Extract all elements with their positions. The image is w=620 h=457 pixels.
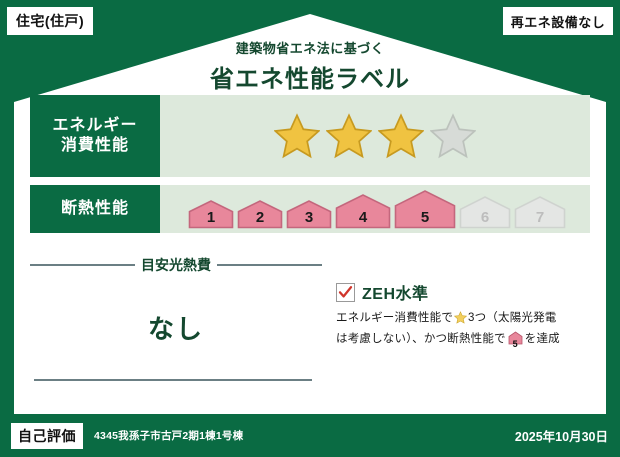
zeh-box: ZEH水準 エネルギー消費性能で 3つ（太陽光発電 は考慮しない）、かつ断熱性能… [322,255,590,405]
lower-section: 目安光熱費 なし ZEH水準 エネルギー消費性能で 3つ（太陽光発電 は考慮しな… [30,255,590,405]
issue-date: 2025年10月30日 [515,426,608,445]
row-insulation-label-line1: 断熱性能 [61,199,129,219]
insulation-level-1: 1 [188,199,234,229]
star-icon-inline [454,311,467,331]
insulation-level-5: 5 [394,189,456,229]
insulation-level-value: 1 [188,209,234,226]
label-footer: 自己評価 4345我孫子市古戸2期1棟1号棟 2025年10月30日 [0,414,620,457]
row-energy-label-line2: 消費性能 [61,136,129,156]
insulation-level-6: 6 [459,195,511,229]
row-insulation-performance: 断熱性能 1234567 [30,185,590,233]
row-insulation-value: 1234567 [160,185,590,233]
star-icon-filled [326,113,372,159]
utility-cost-box: 目安光熱費 なし [30,255,322,405]
utility-cost-heading-text: 目安光熱費 [141,255,211,275]
insulation-level-7: 7 [514,195,566,229]
zeh-description: エネルギー消費性能で 3つ（太陽光発電 は考慮しない）、かつ断熱性能で 5 を達… [336,310,590,352]
utility-cost-bottom-rule [34,379,312,381]
insulation-level-value: 6 [459,209,511,226]
utility-cost-heading: 目安光熱費 [30,255,322,275]
insulation-level-value: 5 [394,209,456,226]
zeh-desc-part2: 3つ（太陽光発電 [468,312,557,324]
insulation-level-value: 4 [335,209,391,226]
star-icon-empty [430,113,476,159]
zeh-title-text: ZEH水準 [362,280,429,304]
star-icon-filled [378,113,424,159]
insulation-level-4: 4 [335,193,391,229]
star-rating [274,113,476,159]
insulation-level-scale: 1234567 [184,189,566,229]
performance-rows: エネルギー 消費性能 断熱性能 1234567 [30,95,590,241]
row-energy-value [160,95,590,177]
building-identifier: 4345我孫子市古戸2期1棟1号棟 [94,428,243,443]
zeh-checkbox[interactable] [336,283,355,302]
insulation-level-value: 7 [514,209,566,226]
heading-rule-left [30,264,135,266]
insulation-badge-inline: 5 [508,331,523,352]
insulation-level-2: 2 [237,199,283,229]
utility-cost-value: なし [30,309,322,346]
zeh-title-row: ZEH水準 [336,280,590,304]
row-insulation-label: 断熱性能 [30,185,160,233]
tag-building-type: 住宅(住戸) [6,6,94,36]
evaluation-type-badge: 自己評価 [10,422,84,450]
row-energy-label: エネルギー 消費性能 [30,95,160,177]
tag-renewable-energy: 再エネ設備なし [502,6,614,36]
row-energy-performance: エネルギー 消費性能 [30,95,590,177]
zeh-desc-part4: を達成 [525,333,560,345]
insulation-level-3: 3 [286,199,332,229]
heading-rule-right [217,264,322,266]
check-icon [338,285,353,300]
zeh-desc-part1: エネルギー消費性能で [336,312,453,324]
zeh-desc-part3: は考慮しない）、かつ断熱性能で [336,333,506,345]
energy-performance-label: 住宅(住戸) 再エネ設備なし 建築物省エネ法に基づく 省エネ性能ラベル エネルギ… [0,0,620,457]
insulation-level-value: 3 [286,209,332,226]
star-icon-filled [274,113,320,159]
insulation-badge-inline-value: 5 [508,338,523,352]
insulation-level-value: 2 [237,209,283,226]
row-energy-label-line1: エネルギー [52,116,137,136]
